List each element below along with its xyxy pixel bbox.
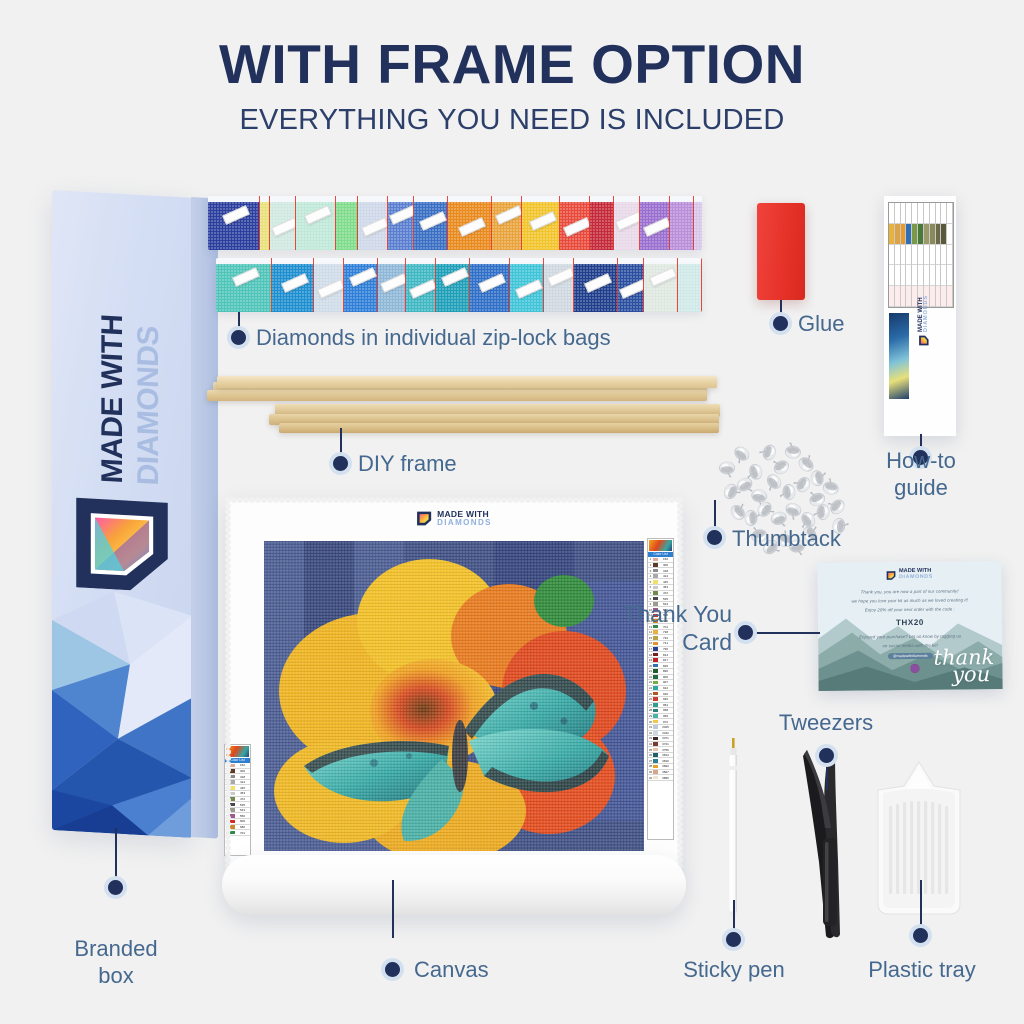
callout-line-branded-box bbox=[115, 828, 117, 884]
guide-color-table bbox=[888, 202, 954, 308]
bag-beads bbox=[694, 202, 702, 250]
guide-logo-icon bbox=[918, 335, 929, 346]
guide-table-cell bbox=[941, 224, 946, 245]
card-logo-icon bbox=[886, 570, 896, 580]
guide-table-cell bbox=[924, 203, 929, 224]
guide-table-cell bbox=[889, 203, 894, 224]
guide-table-cell bbox=[901, 203, 906, 224]
color-list-code: 414 bbox=[235, 780, 250, 784]
guide-logo-line2: DIAMONDS bbox=[924, 295, 930, 332]
glue-stick bbox=[757, 203, 805, 300]
guide-table-cell bbox=[941, 203, 946, 224]
zip-lock-bag bbox=[618, 258, 644, 312]
callout-label-card: Thank You Card bbox=[600, 600, 732, 656]
color-list-code: 535 bbox=[235, 803, 250, 807]
color-list-code: 906 bbox=[658, 675, 673, 679]
callout-dot-glue bbox=[773, 316, 788, 331]
guide-table-cell bbox=[912, 224, 917, 245]
callout-line-canvas bbox=[392, 880, 394, 938]
color-list-rows-right: 1152230033184414544564537472853595431055… bbox=[648, 557, 673, 781]
zip-lock-bag bbox=[314, 258, 344, 312]
guide-logo: MADE WITH DIAMONDS bbox=[918, 295, 930, 346]
bag-beads bbox=[678, 264, 702, 312]
branded-box-label-line1: Branded bbox=[0, 936, 232, 963]
plastic-tray bbox=[872, 760, 966, 920]
card-script-line2: you bbox=[948, 666, 995, 684]
guide-table-cell bbox=[930, 203, 935, 224]
color-list-code: 958 bbox=[658, 708, 673, 712]
guide-table-cell bbox=[924, 224, 929, 245]
color-list-code: 318 bbox=[658, 569, 673, 573]
guide-table-cell bbox=[924, 245, 929, 266]
color-list-code: 472 bbox=[235, 797, 250, 801]
zip-lock-bag bbox=[272, 258, 314, 312]
guide-table-cell bbox=[918, 265, 923, 286]
color-list-row: 403866 bbox=[648, 775, 673, 781]
guide-table-cell bbox=[912, 286, 917, 307]
card-logo-line2: DIAMONDS bbox=[899, 575, 933, 581]
frame-slat bbox=[207, 390, 707, 401]
color-list-code: 550 bbox=[235, 814, 250, 818]
color-list-code: 445 bbox=[658, 580, 673, 584]
zip-lock-bag bbox=[406, 258, 436, 312]
guide-table-cell bbox=[936, 203, 941, 224]
color-list-thumb-right bbox=[648, 539, 673, 552]
tweezers-image bbox=[795, 742, 855, 942]
bag-zipper bbox=[701, 258, 702, 312]
bag-row-top bbox=[208, 196, 702, 250]
instagram-icon bbox=[910, 664, 919, 673]
guide-table-cell bbox=[936, 224, 941, 245]
guide-table-cell bbox=[889, 224, 894, 245]
guide-cover-photo bbox=[889, 313, 909, 399]
callout-dot-canvas bbox=[385, 962, 400, 977]
guide-table-cell bbox=[906, 224, 911, 245]
callout-dot-branded-box bbox=[108, 880, 123, 895]
card-logo: MADE WITH DIAMONDS bbox=[886, 569, 933, 581]
color-list-code: 959 bbox=[658, 714, 673, 718]
color-list-code: 318 bbox=[235, 775, 250, 779]
page-title: WITH FRAME OPTION bbox=[0, 36, 1024, 94]
color-list-code: 954 bbox=[658, 703, 673, 707]
zip-lock-bag bbox=[522, 196, 560, 250]
callout-dot-frame bbox=[333, 456, 348, 471]
guide-logo-text: MADE WITH DIAMONDS bbox=[918, 295, 930, 332]
card-promo-code: THX20 bbox=[818, 617, 1002, 628]
bag-beads bbox=[336, 202, 358, 250]
guide-table-cell bbox=[947, 286, 952, 307]
callout-line-thumbtack bbox=[714, 500, 716, 532]
callout-label-thumbtack: Thumbtack bbox=[732, 526, 841, 553]
zip-lock-bag bbox=[614, 196, 640, 250]
zip-lock-bag bbox=[510, 258, 544, 312]
guide-table-cell bbox=[912, 265, 917, 286]
box-brand-line2: DIAMONDS bbox=[132, 325, 166, 486]
callout-dot-tweezers bbox=[819, 748, 834, 763]
color-list-code: 152 bbox=[658, 557, 673, 561]
callout-label-pen: Sticky pen bbox=[672, 957, 796, 984]
zip-lock-bag bbox=[544, 258, 574, 312]
canvas-artwork-image bbox=[264, 541, 644, 851]
card-thank-you-script: thank you bbox=[934, 649, 995, 684]
color-list-code: 680 bbox=[235, 825, 250, 829]
zip-lock-bag bbox=[358, 196, 388, 250]
callout-label-guide: How-to guide bbox=[858, 448, 984, 502]
color-list-code: 825 bbox=[658, 664, 673, 668]
guide-table-cell bbox=[906, 203, 911, 224]
color-list-code: 543 bbox=[235, 808, 250, 812]
callout-dot-bags bbox=[231, 330, 246, 345]
color-list-code: 3325 bbox=[658, 725, 673, 729]
callout-line-card bbox=[750, 632, 820, 634]
zip-lock-bag bbox=[670, 196, 694, 250]
canvas: MADE WITH DIAMONDS bbox=[228, 500, 680, 870]
zip-lock-bag bbox=[694, 196, 702, 250]
callout-label-tweezers: Tweezers bbox=[762, 710, 890, 737]
color-list-code: 453 bbox=[235, 791, 250, 795]
guide-table-cell bbox=[895, 224, 900, 245]
guide-table-cell bbox=[947, 224, 952, 245]
guide-label-line2: guide bbox=[858, 475, 984, 502]
guide-table-cell bbox=[930, 265, 935, 286]
card-label-line1: Thank You bbox=[600, 600, 732, 628]
zip-lock-bag bbox=[378, 258, 406, 312]
zip-lock-bag bbox=[216, 258, 272, 312]
bag-beads bbox=[590, 202, 614, 250]
color-list-code: 701 bbox=[235, 831, 250, 835]
diy-frame bbox=[205, 368, 725, 448]
guide-table-cell bbox=[918, 245, 923, 266]
callout-label-tray: Plastic tray bbox=[852, 957, 992, 984]
bag-row-bottom bbox=[216, 258, 702, 312]
card-logo-text: MADE WITH DIAMONDS bbox=[899, 569, 933, 580]
canvas-roll bbox=[222, 855, 686, 915]
guide-table-cell bbox=[936, 265, 941, 286]
guide-table-cell bbox=[906, 286, 911, 307]
guide-table-cell bbox=[895, 286, 900, 307]
zip-lock-bag bbox=[388, 196, 414, 250]
color-list-code: 3371 bbox=[658, 736, 673, 740]
color-list-code: 3827 bbox=[658, 770, 673, 774]
color-list-code: 3816 bbox=[658, 759, 673, 763]
color-list-code: 445 bbox=[235, 786, 250, 790]
color-list-code: 453 bbox=[658, 585, 673, 589]
guide-table-cell bbox=[901, 286, 906, 307]
zip-lock-bag bbox=[560, 196, 590, 250]
color-list-code: 3866 bbox=[658, 776, 673, 780]
callout-dot-card bbox=[738, 625, 753, 640]
guide-table-cell bbox=[912, 245, 917, 266]
zip-lock-bag bbox=[574, 258, 618, 312]
zip-lock-bag bbox=[644, 258, 678, 312]
guide-table-cell bbox=[895, 245, 900, 266]
guide-table-cell bbox=[906, 245, 911, 266]
callout-label-branded-box: Branded box bbox=[0, 936, 232, 990]
callout-label-frame: DIY frame bbox=[358, 451, 457, 478]
guide-table-cell bbox=[901, 245, 906, 266]
zip-lock-bag bbox=[414, 196, 448, 250]
canvas-logo-icon bbox=[416, 510, 432, 526]
callout-label-canvas: Canvas bbox=[414, 957, 489, 984]
guide-table-cell bbox=[901, 265, 906, 286]
color-list-code: 3756 bbox=[658, 748, 673, 752]
box-logo-icon bbox=[70, 491, 174, 593]
guide-table-cell bbox=[947, 265, 952, 286]
box-brand-line1: MADE WITH bbox=[96, 314, 130, 485]
zip-lock-bag bbox=[344, 258, 378, 312]
color-list-code: 414 bbox=[658, 574, 673, 578]
color-list-code: 472 bbox=[658, 591, 673, 595]
bag-beads bbox=[670, 202, 694, 250]
guide-table-cell bbox=[901, 224, 906, 245]
box-front-face: MADE WITH DIAMONDS bbox=[52, 190, 192, 838]
guide-table-cell bbox=[930, 286, 935, 307]
guide-table-cell bbox=[889, 286, 894, 307]
box-tagline: Sparkle and Shine bbox=[217, 484, 218, 785]
color-list-code: 3814 bbox=[658, 753, 673, 757]
color-list-code: 912 bbox=[658, 686, 673, 690]
plastic-tray-image bbox=[872, 760, 966, 920]
zip-lock-bag bbox=[208, 196, 260, 250]
guide-label-line1: How-to bbox=[858, 448, 984, 475]
color-list-code: 300 bbox=[658, 563, 673, 567]
guide-table-cell bbox=[936, 245, 941, 266]
callout-dot-tray bbox=[913, 928, 928, 943]
color-list-code: 890 bbox=[658, 669, 673, 673]
zip-lock-bag bbox=[448, 196, 492, 250]
color-list-code: 152 bbox=[235, 763, 250, 767]
frame-slat bbox=[279, 423, 719, 433]
callout-line-tweezers bbox=[826, 760, 828, 790]
guide-table-cell bbox=[906, 265, 911, 286]
zip-lock-bag bbox=[678, 258, 702, 312]
sticky-pen-image bbox=[728, 738, 739, 920]
zip-lock-bag bbox=[336, 196, 358, 250]
guide-table-cell bbox=[936, 286, 941, 307]
guide-table-cell bbox=[912, 203, 917, 224]
color-list-code: 606 bbox=[235, 819, 250, 823]
branded-box-label-line2: box bbox=[0, 963, 232, 990]
guide-table-cell bbox=[889, 265, 894, 286]
guide-table-cell bbox=[941, 265, 946, 286]
callout-label-glue: Glue bbox=[798, 311, 844, 338]
zip-lock-bag bbox=[470, 258, 510, 312]
guide-table-cell bbox=[941, 245, 946, 266]
guide-table-cell bbox=[941, 286, 946, 307]
color-list-code: 972 bbox=[658, 720, 673, 724]
canvas-artwork bbox=[264, 541, 644, 851]
frame-slat bbox=[217, 376, 717, 388]
color-list-code: 817 bbox=[658, 658, 673, 662]
callout-label-bags: Diamonds in individual zip-lock bags bbox=[256, 325, 611, 352]
zip-lock-bag bbox=[492, 196, 522, 250]
guide-table-cell bbox=[889, 245, 894, 266]
color-list-code: 907 bbox=[658, 680, 673, 684]
zip-lock-bag bbox=[590, 196, 614, 250]
guide-table-cell bbox=[947, 203, 952, 224]
callout-dot-thumbtack bbox=[707, 530, 722, 545]
guide-table-cell bbox=[947, 245, 952, 266]
infographic-stage: WITH FRAME OPTION EVERYTHING YOU NEED IS… bbox=[0, 0, 1024, 1024]
callout-dot-pen bbox=[726, 932, 741, 947]
callout-line-tray bbox=[920, 880, 922, 928]
color-list-code: 300 bbox=[235, 769, 250, 773]
zip-lock-bag bbox=[640, 196, 670, 250]
guide-table-column bbox=[947, 203, 953, 307]
zip-lock-bag bbox=[270, 196, 296, 250]
branded-box: MADE WITH DIAMONDS S bbox=[52, 190, 220, 830]
color-list-code: 3820 bbox=[658, 764, 673, 768]
guide-table-cell bbox=[895, 265, 900, 286]
color-list-right: Color List 11522300331844145445645374728… bbox=[647, 538, 674, 840]
sticky-pen bbox=[728, 738, 739, 920]
color-list-code: 3721 bbox=[658, 742, 673, 746]
zip-lock-bag bbox=[296, 196, 336, 250]
card-label-line2: Card bbox=[600, 628, 732, 656]
guide-table-cell bbox=[918, 224, 923, 245]
color-list-code: 920 bbox=[658, 692, 673, 696]
tweezers bbox=[795, 742, 855, 942]
page-subtitle: EVERYTHING YOU NEED IS INCLUDED bbox=[0, 104, 1024, 137]
how-to-guide: MADE WITH DIAMONDS bbox=[884, 196, 956, 436]
card-social-handle: @madewithdiamonds bbox=[888, 653, 933, 659]
zip-lock-bags bbox=[208, 196, 702, 314]
guide-table-cell bbox=[930, 245, 935, 266]
canvas-logo: MADE WITH DIAMONDS bbox=[416, 510, 492, 527]
guide-table-cell bbox=[930, 224, 935, 245]
zip-lock-bag bbox=[436, 258, 470, 312]
guide-table-cell bbox=[895, 203, 900, 224]
thank-you-card: MADE WITH DIAMONDS Thank you, you are no… bbox=[817, 561, 1002, 691]
callout-line-pen bbox=[733, 900, 735, 934]
canvas-logo-line2: DIAMONDS bbox=[437, 519, 492, 527]
guide-table-cell bbox=[918, 203, 923, 224]
color-list-code: 3342 bbox=[658, 731, 673, 735]
canvas-logo-text: MADE WITH DIAMONDS bbox=[437, 510, 492, 527]
color-list-code: 946 bbox=[658, 697, 673, 701]
guide-table-cell bbox=[924, 265, 929, 286]
